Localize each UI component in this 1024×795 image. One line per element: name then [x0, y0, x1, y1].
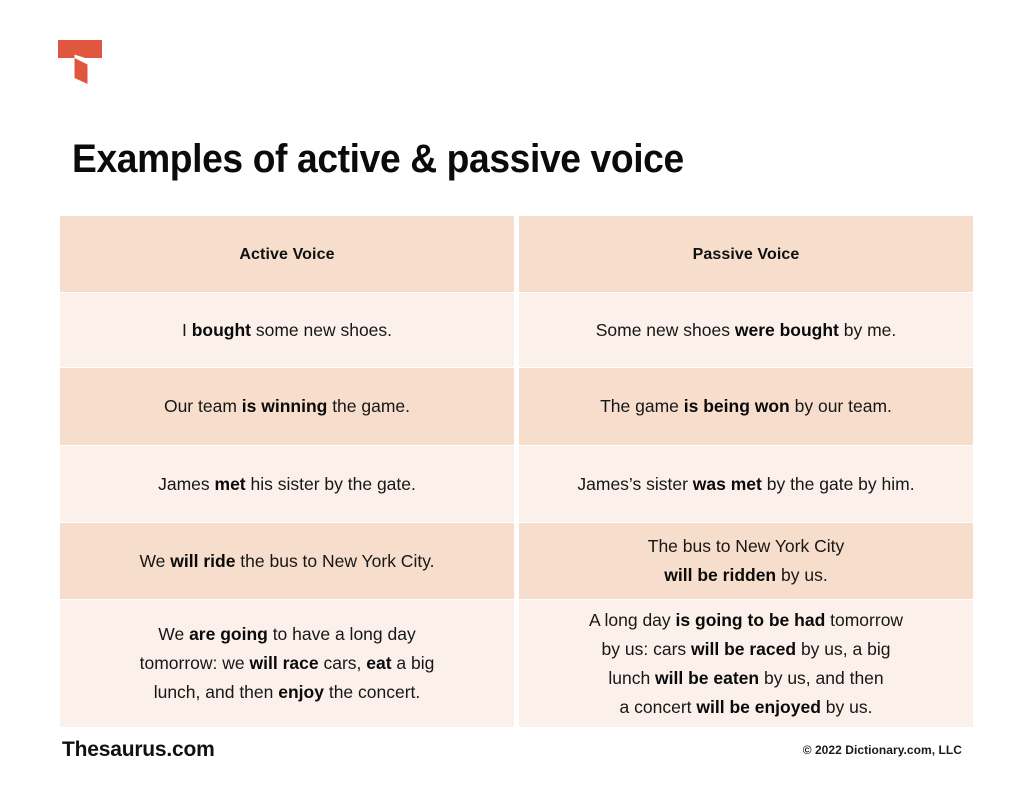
page-title: Examples of active & passive voice	[72, 134, 890, 184]
passive-sentence: The bus to New York Citywill be ridden b…	[648, 532, 844, 590]
passive-sentence: A long day is going to be had tomorrowby…	[589, 606, 903, 722]
active-sentence: Our team is winning the game.	[164, 392, 410, 421]
table-header-row: Active Voice Passive Voice	[60, 216, 973, 292]
cell-active-voice: We are going to have a long daytomorrow:…	[60, 600, 514, 727]
table-row: Our team is winning the game. The game i…	[60, 368, 973, 445]
cell-passive-voice: A long day is going to be had tomorrowby…	[519, 600, 973, 727]
cell-active-voice: James met his sister by the gate.	[60, 446, 514, 522]
table-row: We are going to have a long daytomorrow:…	[60, 600, 973, 727]
active-sentence: I bought some new shoes.	[182, 316, 392, 345]
active-passive-voice-table: Active Voice Passive Voice I bought some…	[60, 216, 973, 727]
cell-passive-voice: The bus to New York Citywill be ridden b…	[519, 523, 973, 599]
passive-sentence: James’s sister was met by the gate by hi…	[577, 470, 914, 499]
cell-passive-voice: The game is being won by our team.	[519, 368, 973, 445]
active-sentence: We are going to have a long daytomorrow:…	[140, 620, 435, 707]
table-row: James met his sister by the gate. James’…	[60, 446, 973, 522]
infographic-page: Examples of active & passive voice Activ…	[0, 0, 1024, 795]
active-sentence: James met his sister by the gate.	[158, 470, 416, 499]
copyright-notice: © 2022 Dictionary.com, LLC	[803, 743, 962, 757]
cell-active-voice: We will ride the bus to New York City.	[60, 523, 514, 599]
column-header-active-voice: Active Voice	[60, 216, 514, 292]
column-header-passive-voice: Passive Voice	[519, 216, 973, 292]
cell-passive-voice: James’s sister was met by the gate by hi…	[519, 446, 973, 522]
passive-sentence: Some new shoes were bought by me.	[596, 316, 897, 345]
cell-active-voice: Our team is winning the game.	[60, 368, 514, 445]
table-row: I bought some new shoes. Some new shoes …	[60, 293, 973, 367]
cell-active-voice: I bought some new shoes.	[60, 293, 514, 367]
passive-sentence: The game is being won by our team.	[600, 392, 892, 421]
thesaurus-t-logo-icon	[56, 38, 104, 86]
table-row: We will ride the bus to New York City. T…	[60, 523, 973, 599]
footer-brand-name: Thesaurus.com	[62, 738, 215, 762]
active-sentence: We will ride the bus to New York City.	[139, 547, 434, 576]
cell-passive-voice: Some new shoes were bought by me.	[519, 293, 973, 367]
